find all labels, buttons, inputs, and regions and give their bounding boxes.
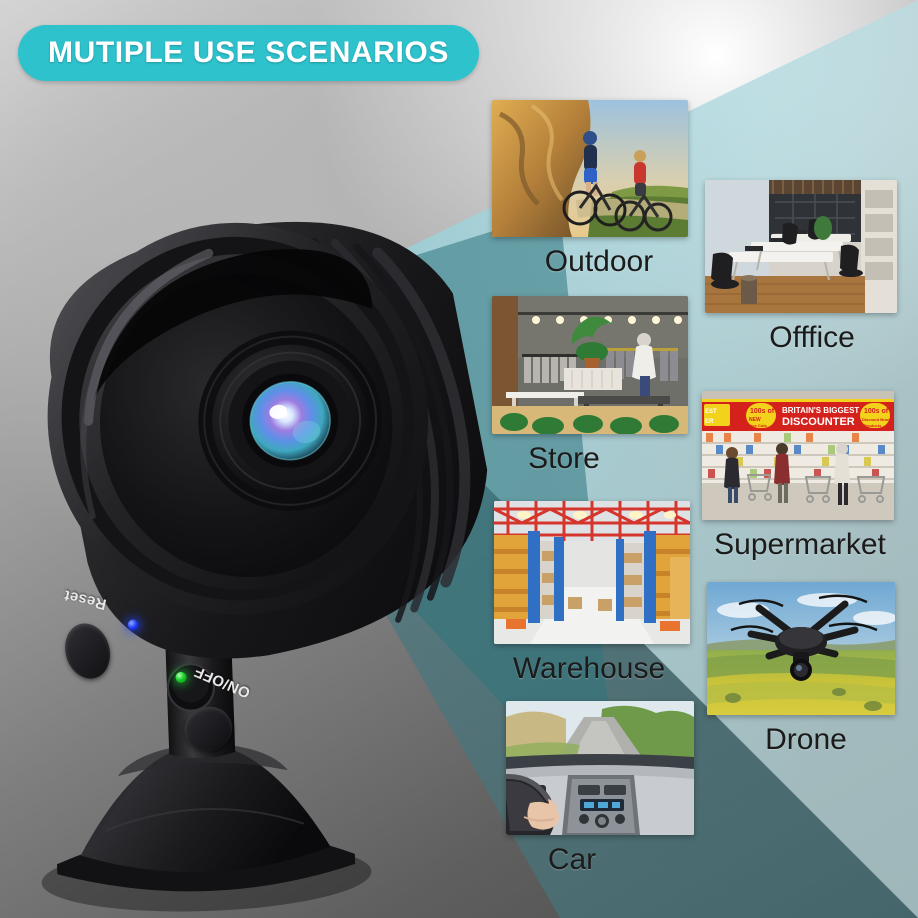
scenario-label-outdoor: Outdoor bbox=[492, 246, 688, 278]
camera-device: Reset ON/OFF bbox=[0, 176, 522, 913]
scenario-card-drone[interactable]: Drone bbox=[707, 582, 895, 756]
scenario-thumb-store bbox=[492, 296, 688, 434]
scenario-card-car[interactable]: Car bbox=[506, 701, 694, 876]
scenario-thumb-outdoor bbox=[492, 100, 688, 237]
scenario-card-store[interactable]: Store bbox=[492, 296, 688, 475]
scenario-label-car: Car bbox=[506, 844, 694, 876]
page-title: MUTIPLE USE SCENARIOS bbox=[48, 36, 449, 70]
svg-text:Products: Products bbox=[864, 423, 882, 428]
scenario-label-office: Offfice bbox=[705, 322, 897, 354]
scenario-label-supermarket: Supermarket bbox=[702, 529, 894, 561]
scenario-label-drone: Drone bbox=[707, 724, 895, 756]
svg-text:100s of: 100s of bbox=[750, 408, 775, 415]
svg-text:Discount Brand: Discount Brand bbox=[862, 417, 892, 422]
svg-text:ER: ER bbox=[705, 419, 714, 425]
svg-text:BRITAIN'S BIGGEST: BRITAIN'S BIGGEST bbox=[782, 406, 859, 415]
scenario-label-warehouse: Warehouse bbox=[494, 653, 690, 685]
camera-body bbox=[14, 181, 514, 688]
svg-text:DISCOUNTER: DISCOUNTER bbox=[782, 416, 855, 428]
scenario-label-store: Store bbox=[492, 443, 688, 475]
product-infographic: MUTIPLE USE SCENARIOS bbox=[0, 0, 918, 918]
scenario-thumb-office bbox=[705, 180, 897, 313]
page-title-banner: MUTIPLE USE SCENARIOS bbox=[18, 25, 479, 81]
scenario-thumb-car bbox=[506, 701, 694, 835]
scenario-card-outdoor[interactable]: Outdoor bbox=[492, 100, 688, 278]
camera-stand-base bbox=[37, 737, 373, 916]
scenario-thumb-warehouse bbox=[494, 501, 690, 644]
scenario-card-supermarket[interactable]: BRITAIN'S BIGGEST DISCOUNTER 100s of NEW… bbox=[702, 391, 894, 561]
svg-text:100s of: 100s of bbox=[864, 408, 889, 415]
scenario-card-office[interactable]: Offfice bbox=[705, 180, 897, 354]
scenario-card-warehouse[interactable]: Warehouse bbox=[494, 501, 690, 685]
scenario-thumb-drone bbox=[707, 582, 895, 715]
svg-text:Price Cuts: Price Cuts bbox=[747, 423, 768, 428]
scenario-thumb-supermarket: BRITAIN'S BIGGEST DISCOUNTER 100s of NEW… bbox=[702, 391, 894, 520]
svg-text:EST: EST bbox=[705, 409, 717, 415]
